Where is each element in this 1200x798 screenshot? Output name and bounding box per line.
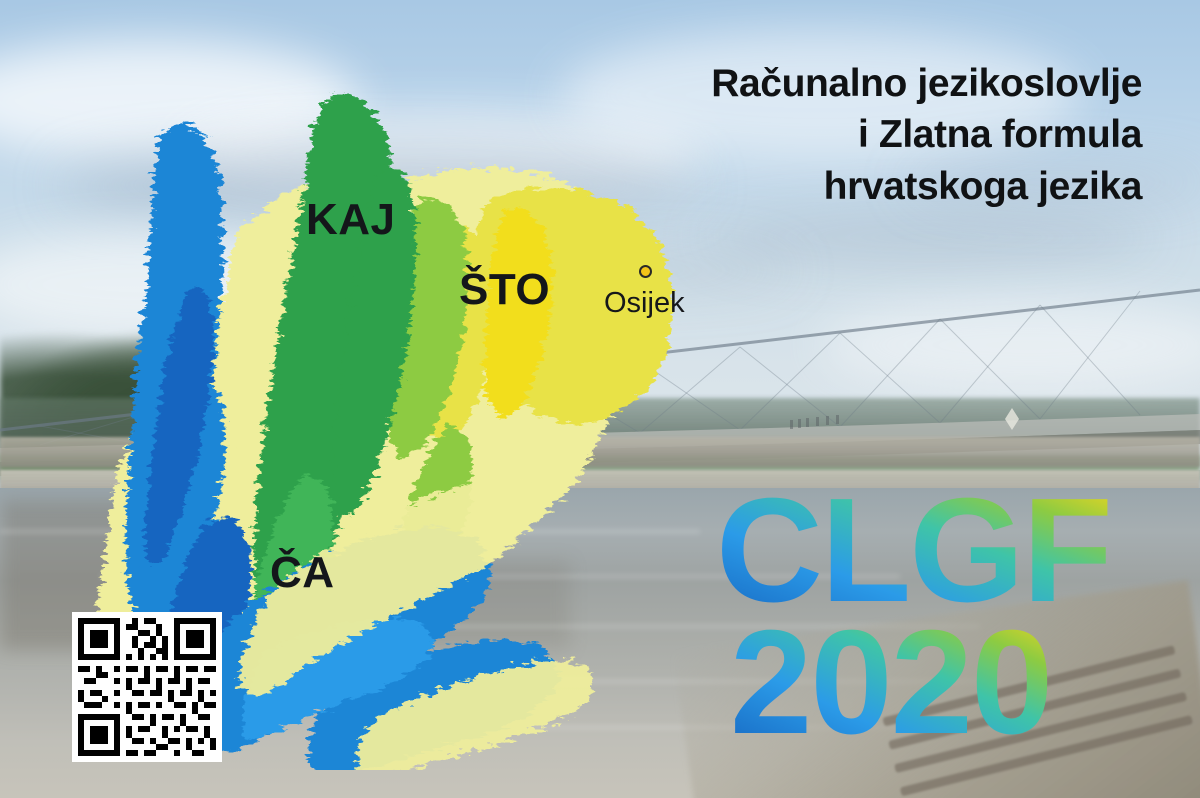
title-line-3: hrvatskoga jezika bbox=[542, 161, 1142, 212]
poster-title: Računalno jezikoslovlje i Zlatna formula… bbox=[542, 58, 1142, 212]
conference-poster: Računalno jezikoslovlje i Zlatna formula… bbox=[0, 0, 1200, 798]
city-label-osijek: Osijek bbox=[604, 287, 685, 320]
clgf-logo-graphic: CLGF 2020 bbox=[716, 493, 1166, 748]
dialect-label-sto: ŠTO bbox=[459, 265, 550, 315]
clgf-logo: CLGF 2020 bbox=[716, 493, 1166, 748]
dialect-label-kaj: KAJ bbox=[306, 195, 396, 245]
qr-code[interactable] bbox=[72, 612, 222, 762]
city-marker-icon bbox=[639, 265, 652, 278]
cloud bbox=[700, 210, 1160, 264]
clgf-year-text: 2020 bbox=[730, 600, 1051, 748]
dialect-label-ca: ČA bbox=[270, 548, 335, 598]
qr-code-graphic bbox=[72, 612, 222, 762]
title-line-1: Računalno jezikoslovlje bbox=[542, 58, 1142, 109]
title-line-2: i Zlatna formula bbox=[542, 109, 1142, 160]
